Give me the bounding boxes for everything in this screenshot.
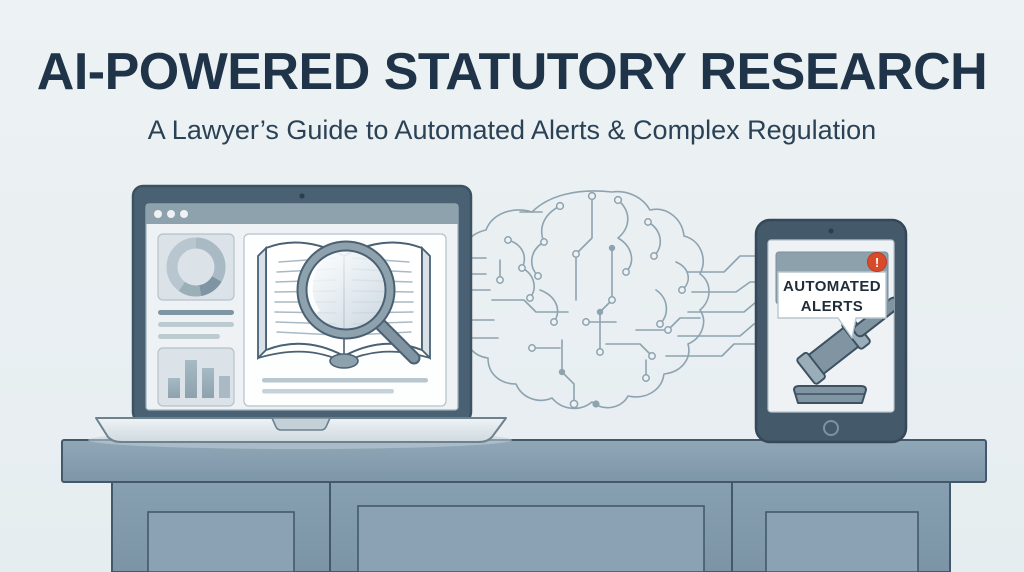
page-title: AI-POWERED STATUTORY RESEARCH [37, 43, 987, 101]
camera-dot [828, 228, 833, 233]
bar-3 [202, 368, 214, 398]
desk-panel-3 [766, 512, 918, 572]
browser-title-bar [146, 204, 458, 224]
desk-panel-2 [358, 506, 704, 572]
alert-text-line-2: ALERTS [801, 298, 863, 315]
bar-1 [168, 378, 180, 398]
laptop [88, 186, 512, 449]
sidebar-text-line-3 [158, 334, 220, 339]
window-dot-2[interactable] [167, 210, 175, 218]
sidebar-text-line-2 [158, 322, 234, 327]
caption-line-2 [262, 389, 394, 394]
window-dot-3[interactable] [180, 210, 188, 218]
header: AI-POWERED STATUTORY RESEARCH A Lawyer’s… [37, 43, 987, 145]
window-dot-1[interactable] [154, 210, 162, 218]
laptop-trackpad-notch [272, 418, 330, 430]
camera-dot [299, 193, 304, 198]
alert-badge[interactable]: ! [868, 253, 887, 272]
tablet: AUTOMATED ALERTS ! [756, 220, 908, 442]
caption-line-1 [262, 378, 428, 383]
screen-main-panel [244, 234, 446, 406]
book-spine [330, 354, 358, 368]
alert-badge-glyph: ! [875, 255, 879, 270]
desk [62, 440, 986, 572]
infographic-canvas: AI-POWERED STATUTORY RESEARCH A Lawyer’s… [0, 0, 1024, 572]
sidebar-text-line-1 [158, 310, 234, 315]
page-subtitle: A Lawyer’s Guide to Automated Alerts & C… [148, 115, 876, 145]
alert-text-line-1: AUTOMATED [783, 278, 881, 295]
bar-2 [185, 360, 197, 398]
desk-panel-1 [148, 512, 294, 572]
bar-4 [219, 376, 230, 398]
